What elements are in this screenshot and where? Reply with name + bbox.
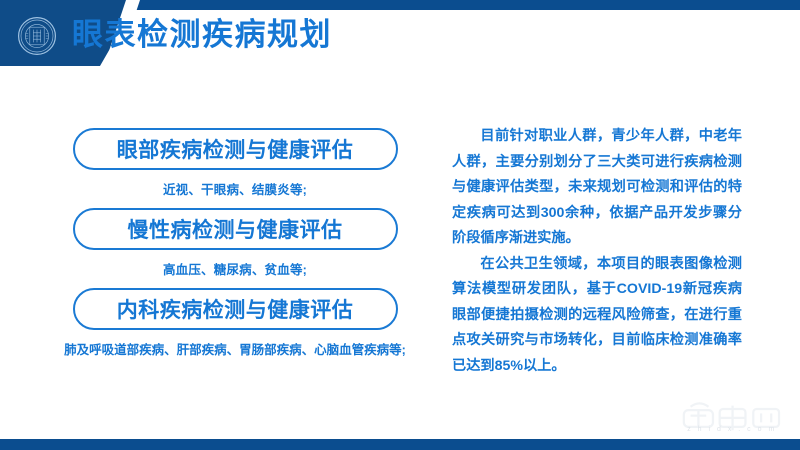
slide-canvas: 眼表检测疾病规划 眼部疾病检测与健康评估 近视、干眼病、结膜炎等; 慢性病检测与…: [0, 0, 800, 450]
paragraph-public-health: 在公共卫生领域，本项目的眼表图像检测算法模型研发团队，基于COVID-19新冠疾…: [452, 252, 742, 380]
watermark-url: z h i d x . c o m: [676, 426, 788, 433]
category-card-title: 内科疾病检测与健康评估: [117, 294, 354, 324]
category-card-title: 眼部疾病检测与健康评估: [117, 134, 354, 164]
disease-category-list: 眼部疾病检测与健康评估 近视、干眼病、结膜炎等; 慢性病检测与健康评估 高血压、…: [40, 128, 430, 368]
category-subtitle-chronic: 高血压、糖尿病、贫血等;: [40, 259, 430, 278]
category-card-chronic[interactable]: 慢性病检测与健康评估: [73, 208, 398, 250]
page-title: 眼表检测疾病规划: [72, 16, 332, 54]
category-card-eye[interactable]: 眼部疾病检测与健康评估: [73, 128, 398, 170]
category-card-title: 慢性病检测与健康评估: [128, 214, 343, 244]
category-subtitle-internal: 肺及呼吸道部疾病、肝部疾病、胃肠部疾病、心脑血管疾病等;: [40, 339, 430, 358]
university-seal-logo-icon: [17, 16, 57, 56]
paragraph-population-planning: 目前针对职业人群，青少年人群，中老年人群，主要分别划分了三大类可进行疾病检测与健…: [452, 124, 742, 252]
description-text-column: 目前针对职业人群，青少年人群，中老年人群，主要分别划分了三大类可进行疾病检测与健…: [452, 124, 742, 379]
category-card-internal[interactable]: 内科疾病检测与健康评估: [73, 288, 398, 330]
bottom-accent-bar: [0, 439, 800, 450]
category-subtitle-eye: 近视、干眼病、结膜炎等;: [40, 179, 430, 198]
